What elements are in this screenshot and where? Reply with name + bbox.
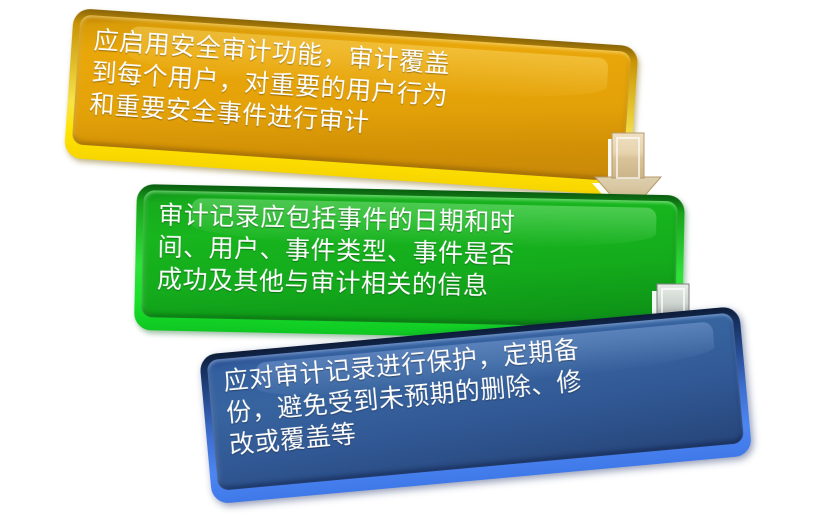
- process-step-3-blue-box[interactable]: 应对审计记录进行保护，定期备 份，避免受到未预期的删除、修 改或覆盖等: [199, 306, 752, 505]
- diagram-canvas: 应启用安全审计功能，审计覆盖 到每个用户，对重要的用户行为 和重要安全事件进行审…: [0, 0, 816, 524]
- process-step-1-orange-box[interactable]: 应启用安全审计功能，审计覆盖 到每个用户，对重要的用户行为 和重要安全事件进行审…: [64, 8, 639, 196]
- step-2-text: 审计记录应包括事件的日期和时 间、用户、事件类型、事件是否 成功及其他与审计相关…: [157, 200, 665, 307]
